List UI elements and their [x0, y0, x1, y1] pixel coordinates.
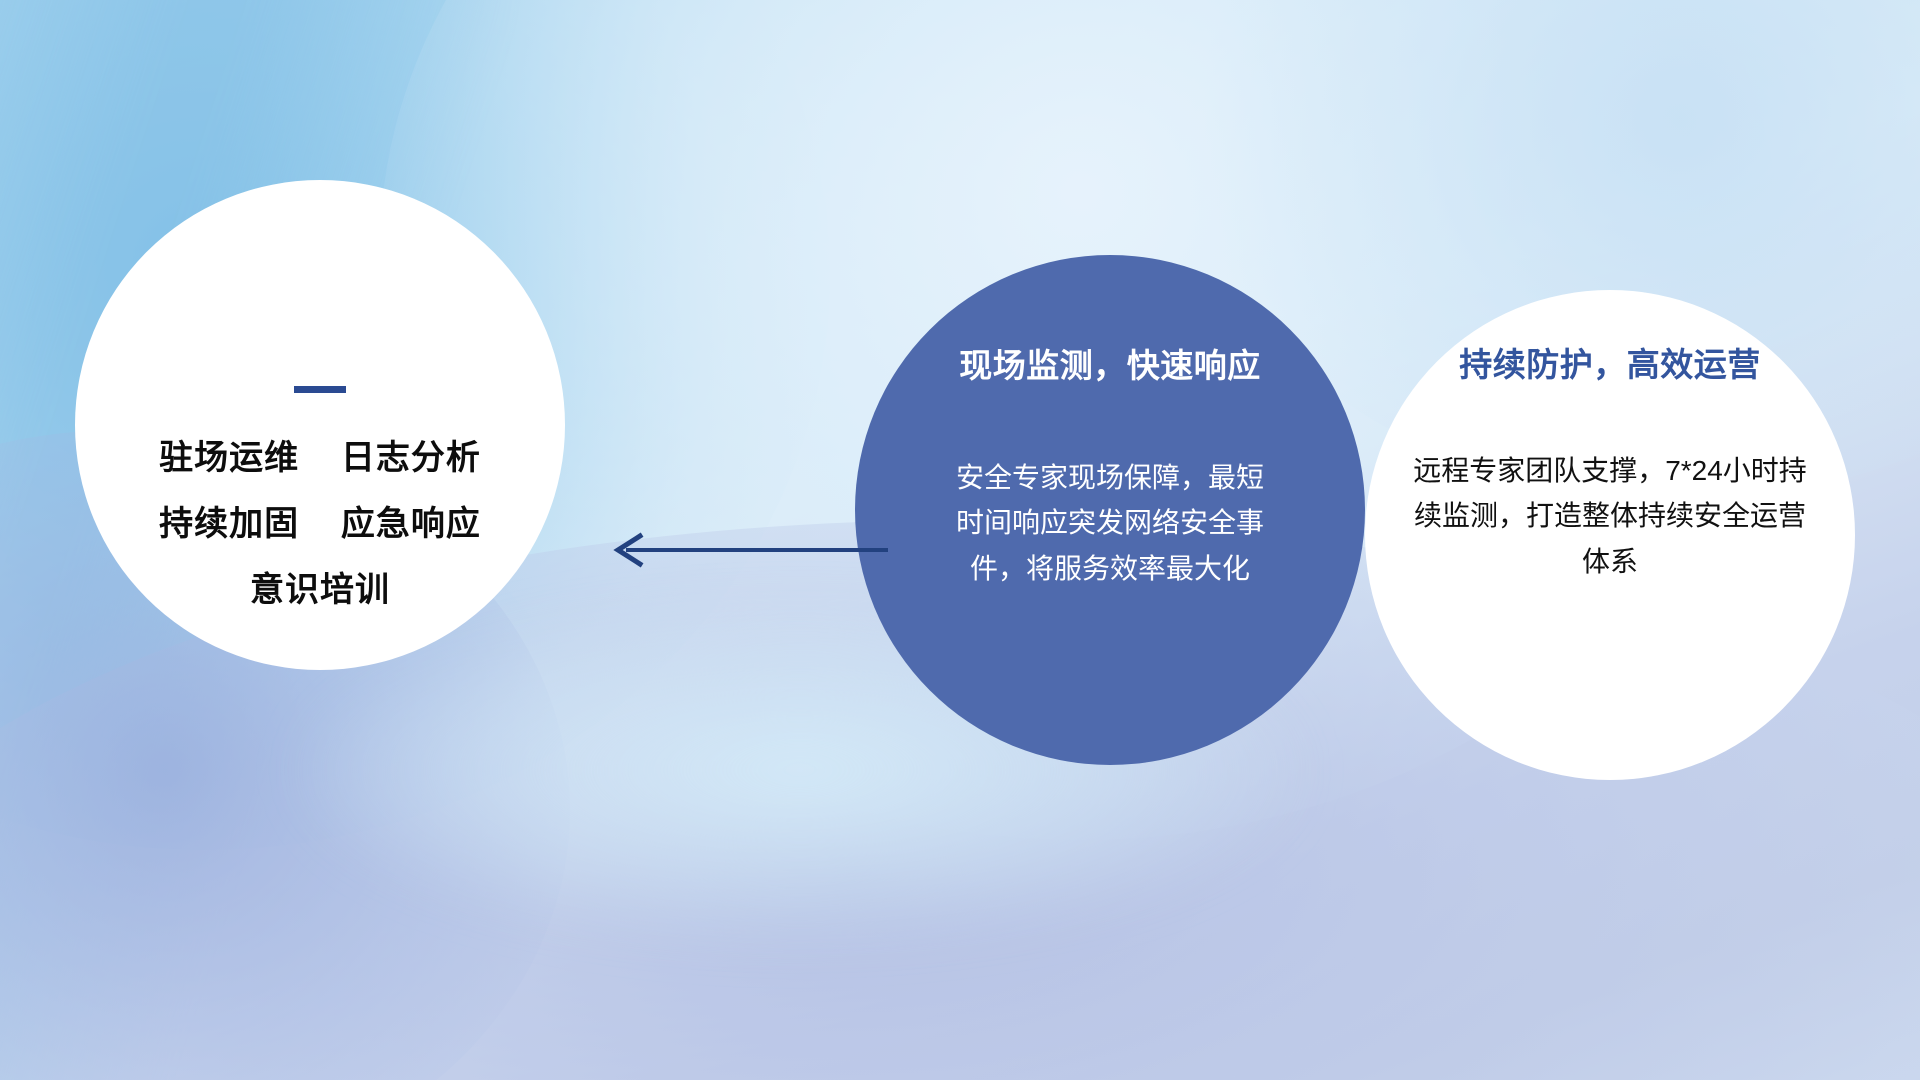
- right-circle-content: 持续防护，高效运营 远程专家团队支撑，7*24小时持续监测，打造整体持续安全运营…: [1365, 290, 1855, 780]
- slide-canvas: 驻场运维 日志分析 持续加固 应急响应 意识培训 现场监测，快速响应 安全专家现…: [0, 0, 1920, 1080]
- middle-circle-content: 现场监测，快速响应 安全专家现场保障，最短时间响应突发网络安全事件，将服务效率最…: [855, 255, 1365, 765]
- left-circle-content: 驻场运维 日志分析 持续加固 应急响应 意识培训: [75, 180, 565, 670]
- left-circle-line-2: 持续加固 应急响应: [159, 507, 481, 541]
- right-circle-title: 持续防护，高效运营: [1459, 338, 1761, 386]
- divider-dash: [294, 386, 346, 393]
- middle-circle-title: 现场监测，快速响应: [959, 339, 1261, 387]
- arrow-left-icon: [600, 520, 890, 580]
- middle-circle-body: 安全专家现场保障，最短时间响应突发网络安全事件，将服务效率最大化: [955, 455, 1265, 591]
- left-circle-line-1: 驻场运维 日志分析: [159, 441, 481, 475]
- left-circle-line-3: 意识培训: [250, 573, 390, 607]
- right-circle-body: 远程专家团队支撑，7*24小时持续监测，打造整体持续安全运营体系: [1410, 448, 1810, 584]
